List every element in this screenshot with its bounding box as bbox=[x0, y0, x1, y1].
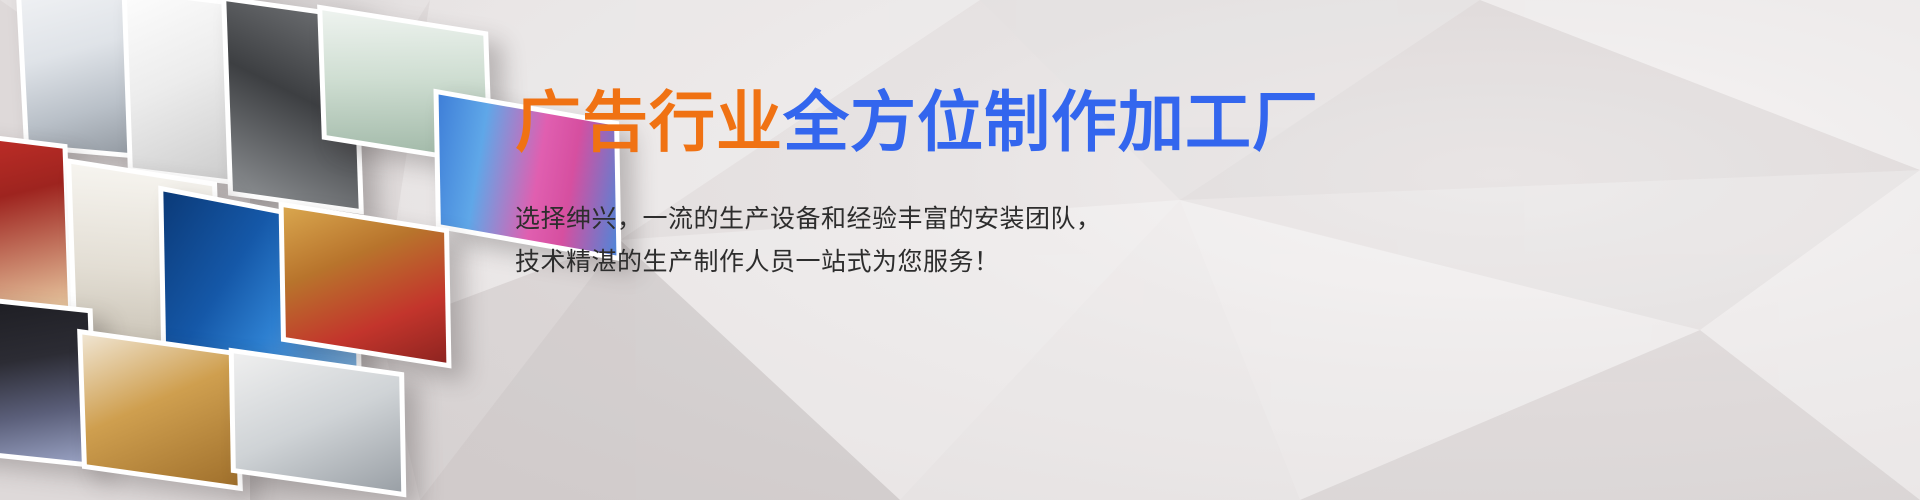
page-title: 广告行业全方位制作加工厂 bbox=[515, 88, 1715, 157]
collage-card-gold-light-box bbox=[77, 329, 243, 492]
project-photo-collage bbox=[0, 0, 450, 500]
promo-banner: 广告行业全方位制作加工厂 选择绅兴，一流的生产设备和经验丰富的安装团队， 技术精… bbox=[0, 0, 1920, 500]
subtitle-line-1: 选择绅兴，一流的生产设备和经验丰富的安装团队， bbox=[515, 197, 1715, 240]
photo-gold-light-box bbox=[82, 334, 237, 485]
collage-card-red-store-interior bbox=[0, 126, 73, 314]
headline-segment-blue: 全方位制作加工厂 bbox=[783, 84, 1319, 161]
collage-card-shop-front-orange bbox=[279, 202, 452, 369]
photo-shop-front-orange bbox=[284, 207, 447, 362]
photo-red-store-interior bbox=[0, 131, 68, 308]
subtitle-line-2: 技术精湛的生产制作人员一站式为您服务！ bbox=[515, 240, 1715, 283]
banner-subtitle: 选择绅兴，一流的生产设备和经验丰富的安装团队， 技术精湛的生产制作人员一站式为您… bbox=[515, 197, 1715, 283]
banner-text-block: 广告行业全方位制作加工厂 选择绅兴，一流的生产设备和经验丰富的安装团队， 技术精… bbox=[515, 88, 1715, 283]
collage-card-sign-letters-closeup bbox=[229, 348, 407, 498]
photo-sign-letters-closeup bbox=[234, 353, 401, 491]
headline-segment-orange: 广告行业 bbox=[515, 84, 783, 161]
